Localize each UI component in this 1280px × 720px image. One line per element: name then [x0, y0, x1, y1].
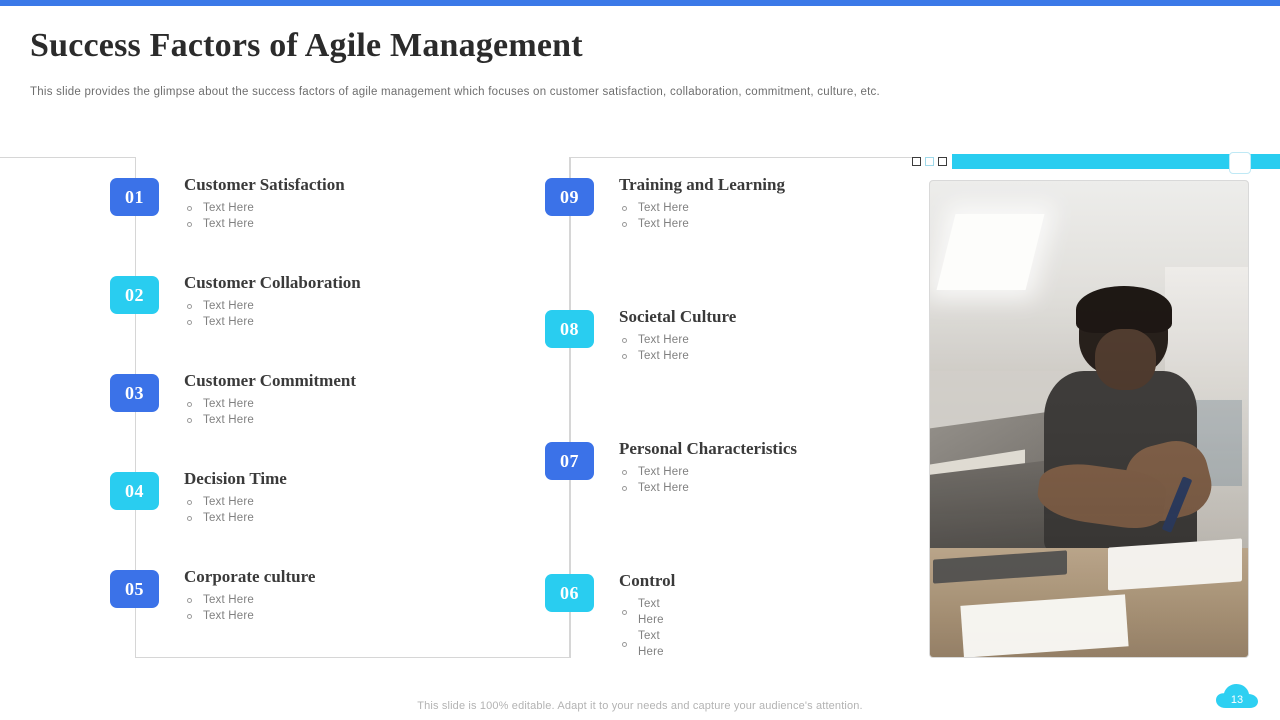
bullet-circle-icon	[622, 354, 627, 359]
factor-bullet: Text Here	[184, 200, 345, 216]
factor-number-badge: 04	[110, 472, 159, 510]
office-photo	[929, 180, 1249, 658]
factor-bullet: Text Here	[619, 200, 785, 216]
factor-body: Training and LearningText HereText Here	[619, 174, 785, 232]
top-accent-bar	[0, 0, 1280, 6]
factor-number-badge: 07	[545, 442, 594, 480]
factor-bullet-label: Text Here	[203, 216, 254, 232]
page-number-label: 13	[1216, 684, 1258, 710]
factor-number-badge: 03	[110, 374, 159, 412]
factor-bullet-label: Text Here	[203, 396, 254, 412]
slide-root: Success Factors of Agile Management This…	[0, 0, 1280, 720]
factor-body: Customer SatisfactionText HereText Here	[184, 174, 345, 232]
bullet-circle-icon	[187, 516, 192, 521]
factor-bullet: Text Here	[619, 464, 797, 480]
factor-bullet: Text Here	[619, 348, 736, 364]
factor-bullet: Text Here	[619, 596, 675, 628]
bullet-circle-icon	[187, 206, 192, 211]
factor-body: Customer CollaborationText HereText Here	[184, 272, 361, 330]
bullet-circle-icon	[187, 304, 192, 309]
factor-bullet: Text Here	[184, 494, 287, 510]
factor-number-badge: 01	[110, 178, 159, 216]
factor-heading: Personal Characteristics	[619, 438, 797, 460]
factor-heading: Training and Learning	[619, 174, 785, 196]
decorative-slider	[910, 152, 1280, 174]
factor-bullet-label: Text Here	[203, 298, 254, 314]
factor-body: Decision TimeText HereText Here	[184, 468, 287, 526]
factor-bullet-list: Text HereText Here	[619, 332, 736, 364]
factor-bullet-list: Text HereText Here	[184, 298, 361, 330]
factor-heading: Customer Satisfaction	[184, 174, 345, 196]
slider-handle[interactable]	[1229, 152, 1251, 174]
factor-number-badge: 02	[110, 276, 159, 314]
bullet-circle-icon	[187, 500, 192, 505]
photo-grain-overlay	[930, 181, 1248, 657]
factor-body: Customer CommitmentText HereText Here	[184, 370, 356, 428]
factor-heading: Societal Culture	[619, 306, 736, 328]
factor-heading: Decision Time	[184, 468, 287, 490]
factor-body: Corporate cultureText HereText Here	[184, 566, 315, 624]
slider-track[interactable]	[952, 154, 1280, 169]
factor-bullet-label: Text Here	[638, 464, 689, 480]
page-title: Success Factors of Agile Management	[30, 27, 583, 65]
factor-bullet: Text Here	[619, 332, 736, 348]
factor-bullet-list: Text HereText Here	[619, 596, 675, 660]
factor-bullet-label: Text Here	[203, 608, 254, 624]
photo-content	[930, 181, 1248, 657]
factor-body: ControlText HereText Here	[619, 570, 675, 660]
page-subtitle: This slide provides the glimpse about th…	[30, 86, 880, 98]
bullet-circle-icon	[187, 320, 192, 325]
factor-bullet: Text Here	[184, 592, 315, 608]
bullet-circle-icon	[187, 222, 192, 227]
factor-bullet-label: Text Here	[638, 200, 689, 216]
factor-bullet-label: Text Here	[638, 596, 675, 628]
page-number-cloud: 13	[1216, 684, 1258, 710]
factor-bullet-label: Text Here	[638, 348, 689, 364]
factor-bullet: Text Here	[184, 608, 315, 624]
factor-bullet-label: Text Here	[203, 494, 254, 510]
factor-bullet: Text Here	[619, 216, 785, 232]
factor-bullet-list: Text HereText Here	[184, 200, 345, 232]
factor-bullet: Text Here	[184, 396, 356, 412]
footer-note: This slide is 100% editable. Adapt it to…	[0, 700, 1280, 712]
bullet-circle-icon	[187, 402, 192, 407]
square-marker-icon	[938, 157, 947, 166]
factor-bullet-label: Text Here	[638, 628, 675, 660]
frame-line-top-left	[0, 157, 136, 158]
factor-bullet-list: Text HereText Here	[184, 592, 315, 624]
factor-bullet-label: Text Here	[203, 200, 254, 216]
factor-heading: Corporate culture	[184, 566, 315, 588]
bullet-circle-icon	[622, 222, 627, 227]
factor-number-badge: 05	[110, 570, 159, 608]
factor-bullet-label: Text Here	[203, 592, 254, 608]
factor-bullet-label: Text Here	[638, 332, 689, 348]
bullet-circle-icon	[187, 418, 192, 423]
bullet-circle-icon	[622, 642, 627, 647]
factor-number-badge: 08	[545, 310, 594, 348]
factor-bullet-label: Text Here	[203, 510, 254, 526]
bullet-circle-icon	[622, 338, 627, 343]
factor-heading: Control	[619, 570, 675, 592]
factor-body: Personal CharacteristicsText HereText He…	[619, 438, 797, 496]
bullet-circle-icon	[622, 610, 627, 615]
factor-number-badge: 09	[545, 178, 594, 216]
bullet-circle-icon	[622, 486, 627, 491]
factor-bullet-list: Text HereText Here	[619, 464, 797, 496]
square-marker-icon	[912, 157, 921, 166]
factor-bullet-list: Text HereText Here	[184, 494, 287, 526]
factor-bullet-list: Text HereText Here	[184, 396, 356, 428]
factor-bullet: Text Here	[184, 412, 356, 428]
factor-bullet: Text Here	[184, 298, 361, 314]
square-marker-icon	[925, 157, 934, 166]
factor-bullet: Text Here	[619, 628, 675, 660]
bullet-circle-icon	[187, 598, 192, 603]
factor-bullet: Text Here	[184, 510, 287, 526]
factor-bullet: Text Here	[184, 314, 361, 330]
frame-line-top-right	[570, 157, 915, 158]
factor-bullet: Text Here	[184, 216, 345, 232]
factor-heading: Customer Commitment	[184, 370, 356, 392]
factor-bullet-label: Text Here	[638, 480, 689, 496]
factor-body: Societal CultureText HereText Here	[619, 306, 736, 364]
factor-bullet: Text Here	[619, 480, 797, 496]
factor-bullet-list: Text HereText Here	[619, 200, 785, 232]
bullet-circle-icon	[622, 470, 627, 475]
factor-heading: Customer Collaboration	[184, 272, 361, 294]
factor-bullet-label: Text Here	[203, 314, 254, 330]
factor-bullet-label: Text Here	[203, 412, 254, 428]
factor-number-badge: 06	[545, 574, 594, 612]
bullet-circle-icon	[622, 206, 627, 211]
bullet-circle-icon	[187, 614, 192, 619]
factor-bullet-label: Text Here	[638, 216, 689, 232]
